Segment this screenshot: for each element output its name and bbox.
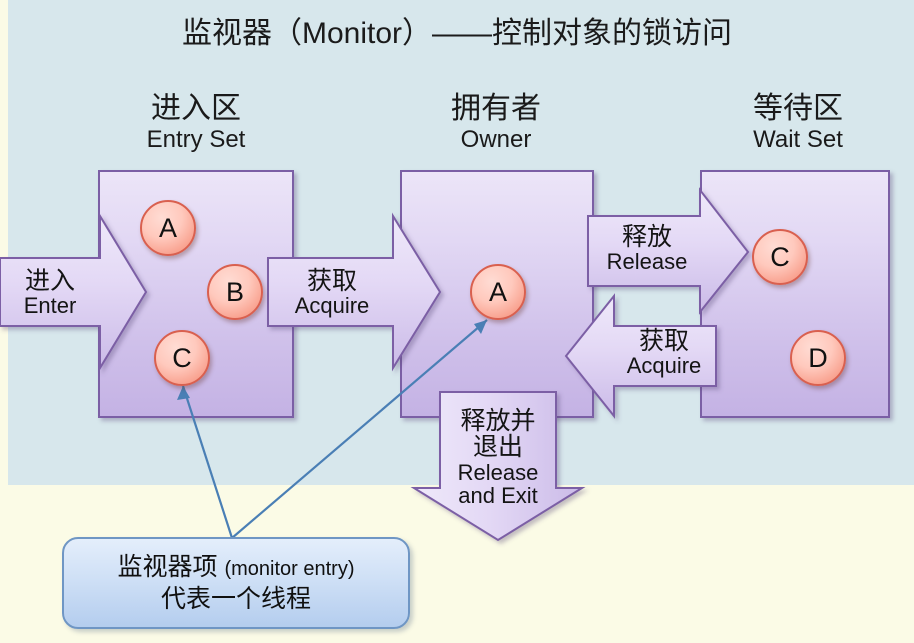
column-header-owner-cn: 拥有者: [396, 92, 596, 126]
column-header-owner: 拥有者 Owner: [396, 92, 596, 154]
column-header-wait-set-en: Wait Set: [698, 126, 898, 154]
callout-line-1-cn: 监视器项: [118, 553, 218, 581]
thread-label: A: [489, 277, 507, 308]
acquire-left-arrow-label-cn: 获取: [272, 268, 392, 294]
thread-label: C: [172, 343, 192, 374]
thread-circle[interactable]: A: [470, 264, 526, 320]
wait-set-box: [700, 170, 890, 418]
thread-circle[interactable]: A: [140, 200, 196, 256]
column-header-wait-set: 等待区 Wait Set: [698, 92, 898, 154]
thread-circle[interactable]: C: [752, 229, 808, 285]
release-exit-arrow-label-en1: Release: [440, 461, 556, 484]
release-exit-arrow-label: 释放并 退出 Release and Exit: [440, 408, 556, 507]
callout-line-2: 代表一个线程: [161, 584, 311, 614]
column-header-owner-en: Owner: [396, 126, 596, 154]
release-exit-arrow-label-cn2: 退出: [440, 434, 556, 460]
acquire-left-arrow-label-en: Acquire: [272, 294, 392, 317]
enter-arrow-label-en: Enter: [2, 294, 98, 317]
diagram-canvas: 监视器（Monitor）——控制对象的锁访问 进入区 Entry Set 拥有者…: [0, 0, 914, 643]
acquire-right-arrow-label: 获取 Acquire: [608, 328, 720, 377]
column-header-entry-set: 进入区 Entry Set: [96, 92, 296, 154]
callout-line-1: 监视器项 (monitor entry): [118, 552, 355, 584]
thread-label: B: [226, 277, 244, 308]
left-margin-band: [0, 0, 8, 485]
release-exit-arrow-label-en2: and Exit: [440, 484, 556, 507]
release-arrow-label: 释放 Release: [592, 224, 702, 273]
thread-circle[interactable]: D: [790, 330, 846, 386]
thread-label: D: [808, 343, 828, 374]
acquire-left-arrow-label: 获取 Acquire: [272, 268, 392, 317]
acquire-right-arrow-label-cn: 获取: [608, 328, 720, 354]
thread-circle[interactable]: C: [154, 330, 210, 386]
column-header-entry-set-cn: 进入区: [96, 92, 296, 126]
thread-circle[interactable]: B: [207, 264, 263, 320]
enter-arrow-label-cn: 进入: [2, 268, 98, 294]
monitor-entry-callout: 监视器项 (monitor entry) 代表一个线程: [62, 537, 410, 629]
callout-line-1-en: (monitor entry): [224, 558, 354, 580]
acquire-right-arrow-label-en: Acquire: [608, 354, 720, 377]
column-header-entry-set-en: Entry Set: [96, 126, 296, 154]
column-header-wait-set-cn: 等待区: [698, 92, 898, 126]
thread-label: C: [770, 242, 790, 273]
enter-arrow-label: 进入 Enter: [2, 268, 98, 317]
release-arrow-label-cn: 释放: [592, 224, 702, 250]
release-exit-arrow-label-cn1: 释放并: [440, 408, 556, 434]
release-arrow-label-en: Release: [592, 250, 702, 273]
thread-label: A: [159, 213, 177, 244]
page-title: 监视器（Monitor）——控制对象的锁访问: [0, 8, 914, 52]
